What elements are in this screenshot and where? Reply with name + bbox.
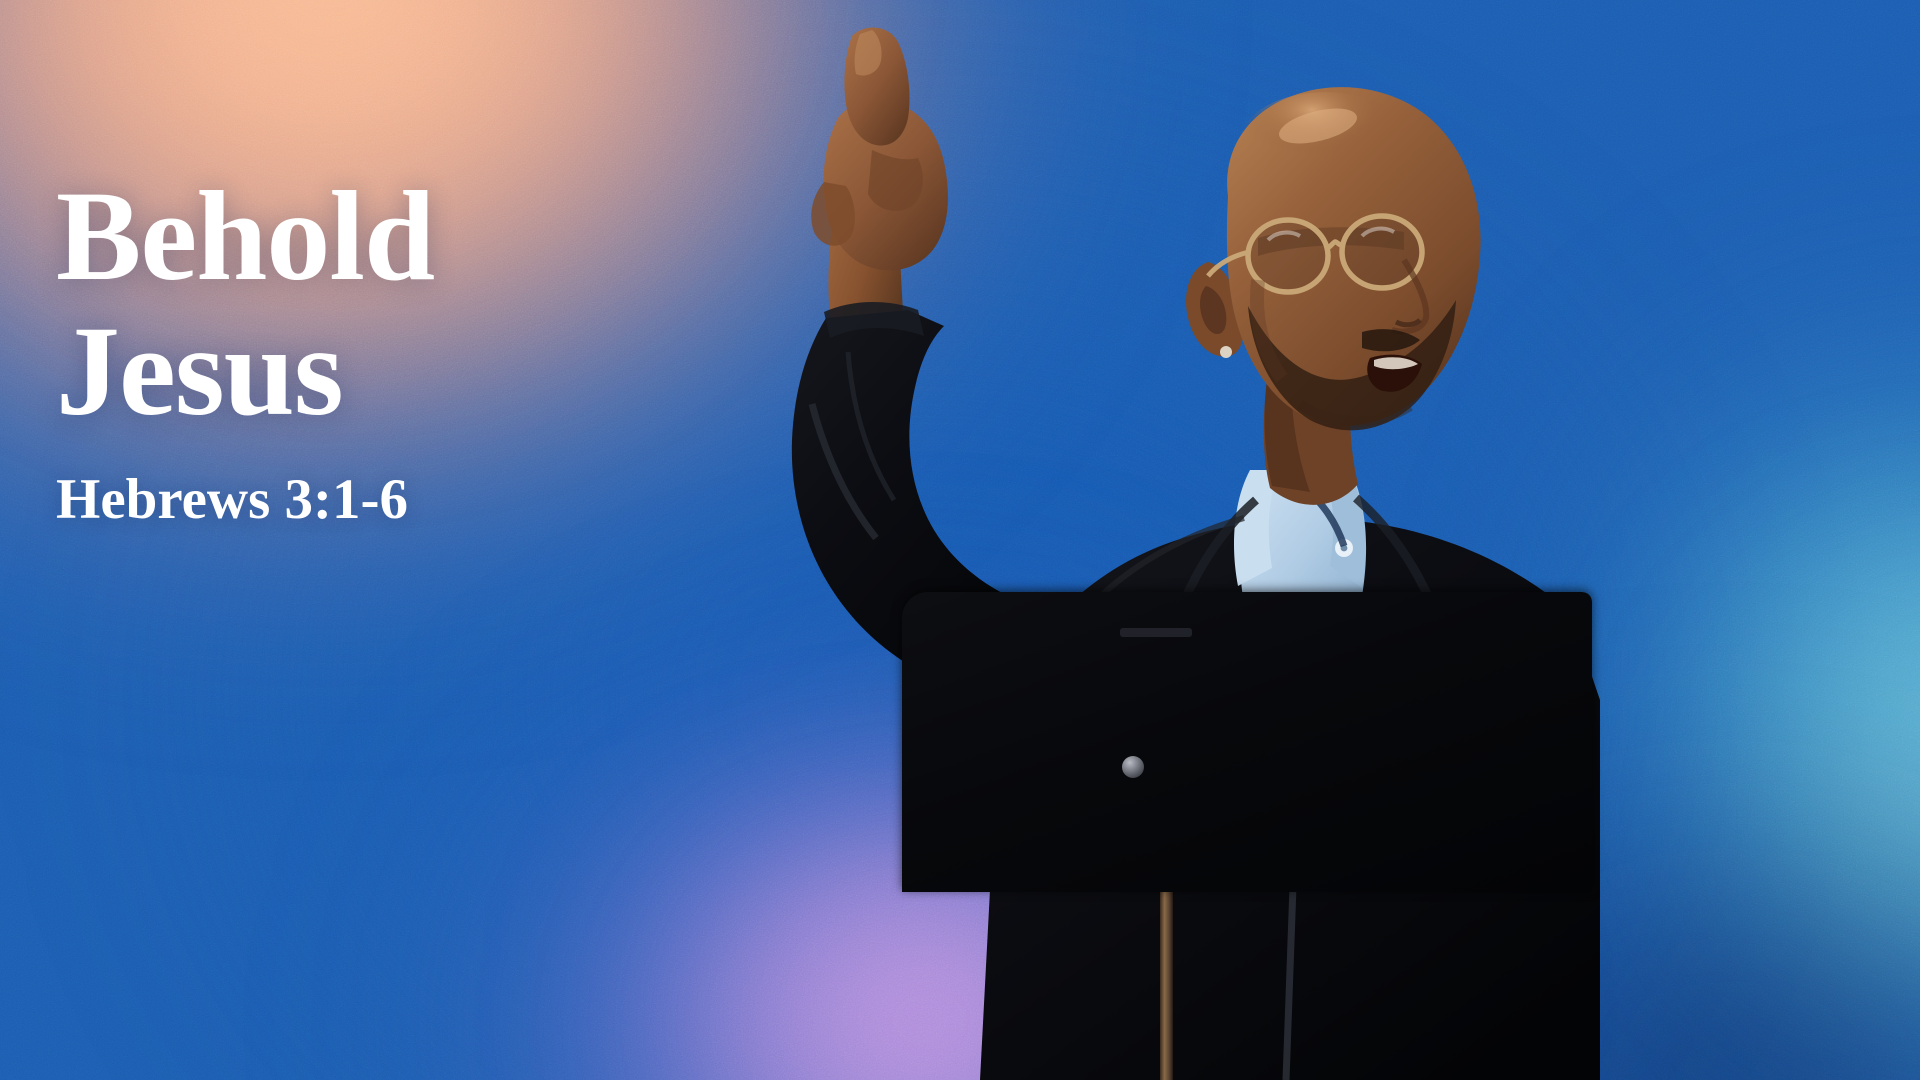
earring (1220, 346, 1232, 358)
headline-line-1: Behold (56, 165, 434, 307)
knuckle-shading (868, 150, 923, 211)
speaker-illustration (0, 0, 1920, 1080)
scripture-reference: Hebrews 3:1-6 (56, 471, 836, 528)
music-stand-desk (902, 592, 1592, 892)
scalp-highlight (1240, 92, 1412, 192)
page-title: Behold Jesus (56, 175, 836, 433)
slide-canvas: Behold Jesus Hebrews 3:1-6 (0, 0, 1920, 1080)
music-stand-knob (1122, 756, 1144, 778)
head-group (1186, 87, 1481, 430)
title-text-block: Behold Jesus Hebrews 3:1-6 (56, 175, 836, 528)
music-stand-lip (1120, 628, 1192, 637)
headline-line-2: Jesus (56, 310, 836, 433)
